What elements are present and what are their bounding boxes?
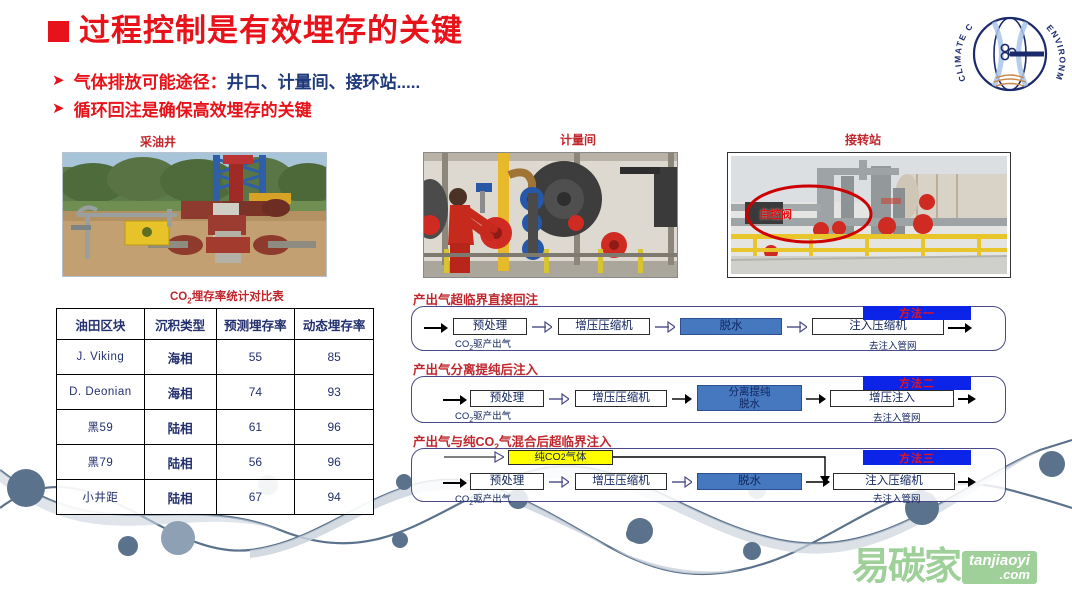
table-row: 黑79 陆相 56 96: [57, 445, 374, 480]
flow-1-inlet-arrow-icon: [424, 320, 448, 336]
flow-3-node-3[interactable]: 脱水: [697, 473, 802, 490]
flow-2-outlet-arrow-icon: [958, 392, 976, 406]
flow-2-node-3[interactable]: 分离提纯 脱水: [697, 385, 802, 411]
flow-3-input-label: CO2驱产出气: [455, 491, 511, 507]
title-square-bullet-icon: [48, 21, 69, 42]
svg-text:CLIMATE CHANGE: CLIMATE CHANGE: [954, 2, 975, 83]
logo-text-left: CLIMATE CHANGE: [954, 2, 975, 83]
table-title: CO2埋存率统计对比表: [170, 288, 284, 305]
flow-2-node-2[interactable]: 增压压缩机: [575, 390, 667, 407]
flow-1-node-2[interactable]: 增压压缩机: [558, 318, 650, 335]
flow-2-node-1[interactable]: 预处理: [470, 390, 544, 407]
photo-caption-oil-well: 采油井: [140, 133, 176, 150]
table-cell: J. Viking: [57, 340, 145, 375]
table-cell: 67: [216, 480, 295, 515]
photo-caption-transfer-station: 接转站: [845, 131, 881, 148]
table-row: 小井距 陆相 67 94: [57, 480, 374, 515]
table-cell: 85: [295, 340, 374, 375]
flow-3-pure-inlet-arrow-icon: [444, 450, 504, 464]
flow-2-input-label: CO2驱产出气: [455, 408, 511, 424]
watermark-domain-box: tanjiaoyi .com: [962, 551, 1037, 584]
table-header-cell: 沉积类型: [144, 309, 216, 340]
bullet-line-1-text: 气体排放可能途径：井口、计量间、接环站.....: [74, 68, 421, 93]
table-cell: 小井距: [57, 480, 145, 515]
table-cell: 56: [216, 445, 295, 480]
flow-1-method-badge: 方法一: [863, 306, 971, 320]
flow-3-pure-co2-node[interactable]: 纯CO2气体: [508, 450, 613, 465]
watermark-cn-text: 易碳家: [852, 548, 960, 586]
table-cell: 61: [216, 410, 295, 445]
table-header-row: 油田区块 沉积类型 预测埋存率 动态埋存率: [57, 309, 374, 340]
table-cell: 93: [295, 375, 374, 410]
table-cell: 96: [295, 445, 374, 480]
flow-2-arrow-3-icon: [672, 392, 692, 406]
photo-oil-well: [62, 152, 327, 277]
table-cell: 陆相: [144, 445, 216, 480]
flow-1-node-1[interactable]: 预处理: [453, 318, 527, 335]
flow-2-output-label: 去注入管网: [873, 410, 921, 424]
table-row: D. Deonian 海相 74 93: [57, 375, 374, 410]
table-cell: D. Deonian: [57, 375, 145, 410]
watermark: 易碳家 tanjiaoyi .com: [852, 548, 1037, 586]
flow-3-node-4[interactable]: 注入压缩机: [833, 473, 955, 490]
bullet-line-2: ➤ 循环回注是确保高效埋存的关键: [52, 96, 312, 121]
arrow-bullet-icon: ➤: [52, 73, 65, 88]
flow-3-node-1[interactable]: 预处理: [470, 473, 544, 490]
photo-annotation-label: 自控阀: [759, 206, 792, 222]
photo-caption-metering-station: 计量间: [560, 131, 596, 148]
logo-text-right: ENVIRONMENT: [954, 2, 1066, 82]
table-cell: 96: [295, 410, 374, 445]
table-header-cell: 油田区块: [57, 309, 145, 340]
flow-3-inlet-arrow-icon: [443, 475, 467, 491]
table-cell: 黑79: [57, 445, 145, 480]
flow-1-output-label: 去注入管网: [869, 338, 917, 352]
table-cell: 海相: [144, 375, 216, 410]
flow-3-node-2[interactable]: 增压压缩机: [575, 473, 667, 490]
flow-3-arrow-2-icon: [549, 475, 569, 489]
watermark-domain-line1: tanjiaoyi: [969, 553, 1030, 568]
watermark-domain-line2: .com: [969, 568, 1030, 581]
table-cell: 陆相: [144, 480, 216, 515]
table-header-cell: 动态埋存率: [295, 309, 374, 340]
title-label: 过程控制是有效埋存的关键: [79, 14, 463, 48]
table-cell: 74: [216, 375, 295, 410]
photo-metering-station: [423, 152, 678, 278]
flow-3-method-badge: 方法三: [863, 450, 971, 465]
table-header-cell: 预测埋存率: [216, 309, 295, 340]
storage-rate-table: 油田区块 沉积类型 预测埋存率 动态埋存率 J. Viking 海相 55 85…: [56, 308, 374, 515]
page-title: 过程控制是有效埋存的关键: [48, 14, 463, 48]
flow-3-arrow-4-icon: [806, 475, 830, 489]
table-cell: 94: [295, 480, 374, 515]
flow-2-inlet-arrow-icon: [443, 392, 467, 408]
arrow-bullet-icon: ➤: [52, 101, 65, 116]
flow-2-arrow-4-icon: [806, 392, 826, 406]
table-cell: 陆相: [144, 410, 216, 445]
table-row: J. Viking 海相 55 85: [57, 340, 374, 375]
bullet-line-1: ➤ 气体排放可能途径：井口、计量间、接环站.....: [52, 68, 420, 93]
flow-1-outlet-arrow-icon: [948, 320, 972, 336]
flow-2-node-4[interactable]: 增压注入: [830, 390, 954, 407]
flow-2-arrow-2-icon: [549, 392, 569, 406]
flow-1-input-label: CO2驱产出气: [455, 336, 511, 352]
flow-1-arrow-3-icon: [655, 320, 675, 334]
flow-1-node-3[interactable]: 脱水: [680, 318, 782, 335]
photo-transfer-station: 自控阀: [727, 152, 1011, 278]
flow-2-method-badge: 方法二: [863, 376, 971, 390]
flow-1-arrow-4-icon: [787, 320, 807, 334]
flow-3-arrow-3-icon: [672, 475, 692, 489]
flow-3-output-label: 去注入管网: [873, 491, 921, 505]
table-cell: 55: [216, 340, 295, 375]
climate-change-environment-logo: CLIMATE CHANGE ENVIRONMENT: [954, 2, 1066, 114]
table-row: 黑59 陆相 61 96: [57, 410, 374, 445]
svg-text:ENVIRONMENT: ENVIRONMENT: [954, 2, 1066, 82]
table-cell: 黑59: [57, 410, 145, 445]
slide-canvas: 过程控制是有效埋存的关键 ➤ 气体排放可能途径：井口、计量间、接环站..... …: [0, 0, 1072, 601]
flow-1-arrow-2-icon: [532, 320, 552, 334]
bullet-line-2-text: 循环回注是确保高效埋存的关键: [74, 96, 312, 121]
flow-3-outlet-arrow-icon: [958, 475, 976, 489]
table-cell: 海相: [144, 340, 216, 375]
